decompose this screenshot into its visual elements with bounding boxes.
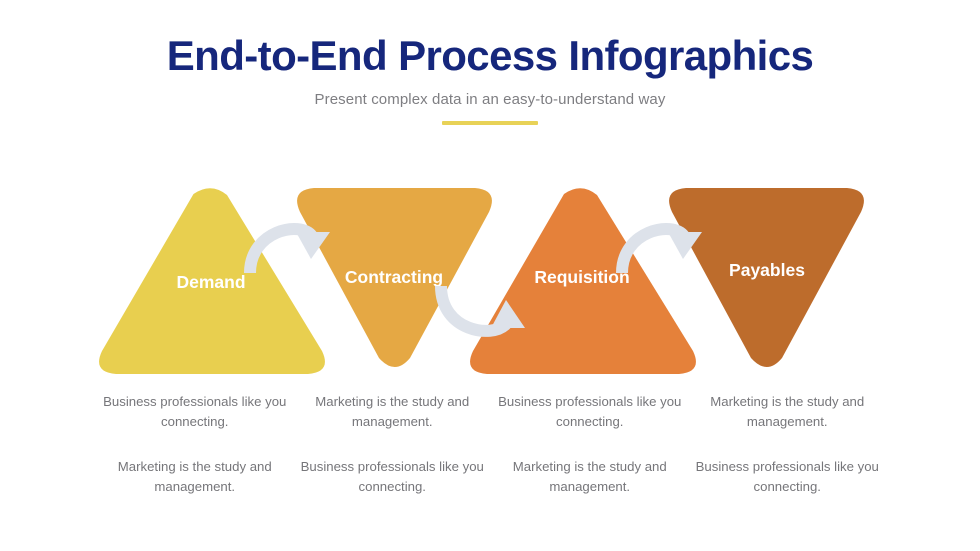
caption-column-2: Marketing is the study and management. B… (294, 392, 492, 496)
caption-text: Marketing is the study and management. (294, 392, 492, 431)
process-diagram: Demand Contracting Requisition Payables (0, 176, 980, 386)
process-step-label: Requisition (534, 267, 629, 287)
caption-row: Business professionals like you connecti… (96, 392, 886, 496)
process-step-payables[interactable]: Payables (669, 188, 864, 367)
process-step-demand[interactable]: Demand (99, 188, 325, 374)
process-step-requisition[interactable]: Requisition (470, 188, 696, 374)
process-step-contracting[interactable]: Contracting (297, 188, 492, 367)
caption-text: Business professionals like you connecti… (96, 392, 294, 431)
caption-text: Marketing is the study and management. (491, 457, 689, 496)
header: End-to-End Process Infographics Present … (0, 34, 980, 125)
caption-text: Business professionals like you connecti… (491, 392, 689, 431)
page-title: End-to-End Process Infographics (0, 34, 980, 79)
caption-column-3: Business professionals like you connecti… (491, 392, 689, 496)
title-divider (442, 121, 538, 125)
caption-text: Marketing is the study and management. (689, 392, 887, 431)
caption-text: Marketing is the study and management. (96, 457, 294, 496)
slide-canvas: End-to-End Process Infographics Present … (0, 0, 980, 551)
process-step-label: Demand (176, 272, 245, 292)
page-subtitle: Present complex data in an easy-to-under… (0, 91, 980, 108)
caption-column-1: Business professionals like you connecti… (96, 392, 294, 496)
process-step-label: Payables (729, 260, 805, 280)
caption-text: Business professionals like you connecti… (294, 457, 492, 496)
caption-text: Business professionals like you connecti… (689, 457, 887, 496)
process-step-label: Contracting (345, 267, 443, 287)
caption-column-4: Marketing is the study and management. B… (689, 392, 887, 496)
